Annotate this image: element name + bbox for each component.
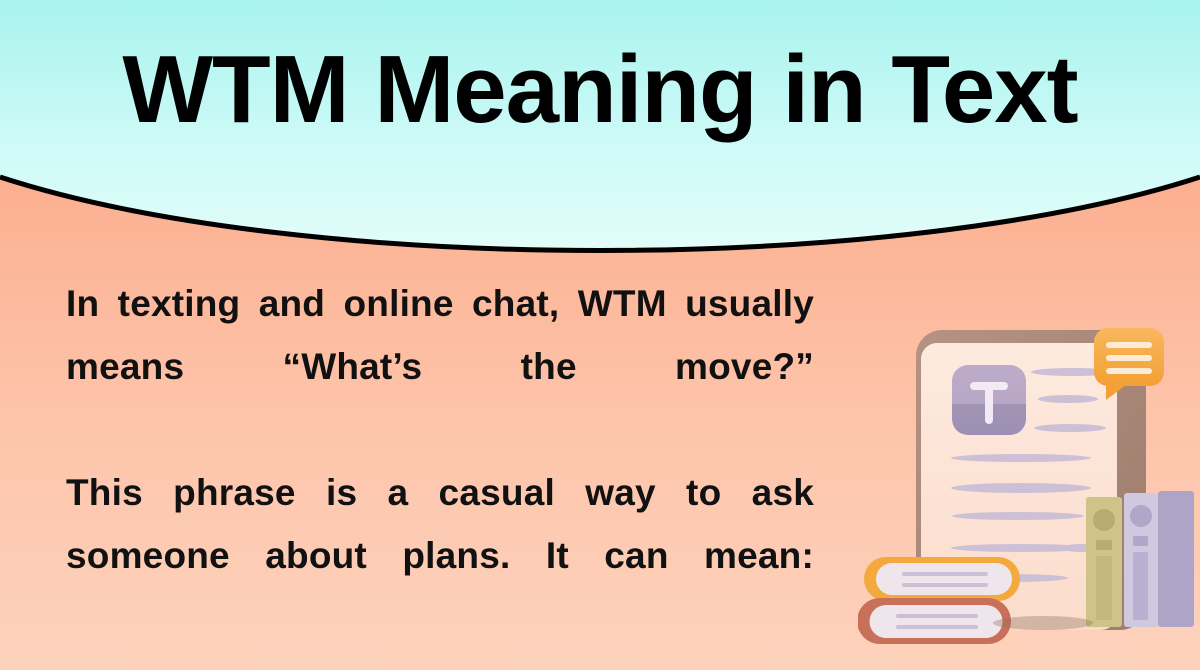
title-area: WTM Meaning in Text (0, 0, 1200, 180)
body-copy: In texting and online chat, WTM usually … (66, 272, 814, 650)
paragraph-definition: In texting and online chat, WTM usually … (66, 272, 814, 461)
document-illustration (858, 300, 1200, 670)
binders-group (1086, 491, 1194, 627)
text-badge-icon (952, 365, 1026, 435)
paragraph-explanation: This phrase is a casual way to ask someo… (66, 461, 814, 650)
page-title: WTM Meaning in Text (122, 42, 1077, 138)
poster-canvas: WTM Meaning in Text In texting and onlin… (0, 0, 1200, 670)
document-shadow (993, 616, 1093, 630)
books-stack (858, 557, 1020, 644)
